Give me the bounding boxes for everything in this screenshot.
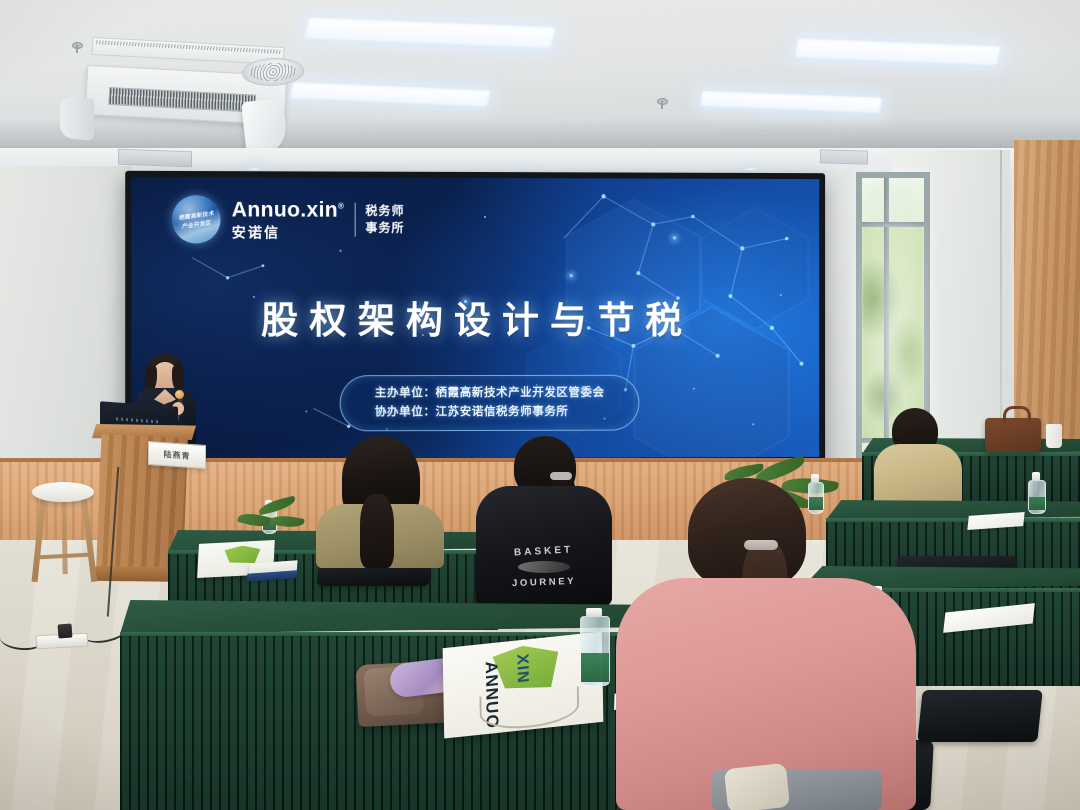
water-bottle-front [580, 608, 608, 684]
host-organizer-line: 主办单位：栖霞高新技术产业开发区管委会 [375, 384, 605, 403]
registered-mark: ® [338, 202, 344, 211]
glow-particle [570, 274, 573, 277]
stool-seat [32, 482, 94, 502]
attendee-hoodie [476, 486, 612, 606]
brand-name-cn: 安诺信 [232, 225, 345, 239]
potted-plant-small [236, 498, 306, 542]
attendee-bag-strap [724, 763, 790, 810]
brand-sub-line-2: 事务所 [365, 221, 404, 234]
cohost-organizer-line: 协办单位：江苏安诺信税务师事务所 [375, 403, 605, 422]
organizer-box: 主办单位：栖霞高新技术产业开发区管委会 协办单位：江苏安诺信税务师事务所 [340, 375, 640, 432]
water-bottle-1 [1028, 472, 1044, 512]
brand-name-en-text: Annuo.xin [232, 198, 338, 221]
paper-cup [1046, 424, 1062, 448]
window-mullion-horizontal-1 [862, 222, 924, 227]
soffit-vent-plate [118, 149, 192, 168]
microphone-head-icon [175, 390, 184, 399]
led-display-screen[interactable]: 栖霞高新技术 产业开发区 Annuo.xin® 安诺信 税务师 事务所 股权架 [131, 177, 819, 459]
glow-particle [673, 236, 675, 238]
power-plug[interactable] [58, 624, 73, 639]
hair-tie [744, 540, 778, 550]
ac-grill [108, 87, 256, 113]
attendee-khaki-jacket [316, 436, 444, 566]
leather-briefcase [985, 418, 1041, 452]
star-particle [693, 388, 695, 390]
window-foliage [862, 224, 924, 439]
conference-room-photo: 栖霞高新技术 产业开发区 Annuo.xin® 安诺信 税务师 事务所 股权架 [0, 0, 1080, 810]
hair-tie [550, 472, 572, 480]
attendee-black-hoodie: BASKET JOURNEY [476, 436, 612, 606]
ac-side-cap [60, 95, 94, 141]
slide-brand-lockup: 栖霞高新技术 产业开发区 Annuo.xin® 安诺信 税务师 事务所 [172, 195, 405, 244]
speaker-nameplate-text: 陆燕青 [164, 449, 191, 462]
speaker-nameplate: 陆燕青 [148, 441, 206, 469]
plant-leaf [269, 513, 304, 530]
table-top [120, 600, 640, 634]
soffit-vent-plate-2 [820, 149, 868, 164]
sprinkler-icon-1 [72, 42, 81, 53]
sprinkler-icon-2 [657, 98, 666, 109]
slide-title: 股权架构设计与节税 [131, 290, 819, 344]
zone-emblem-badge-icon: 栖霞高新技术 产业开发区 [172, 195, 221, 243]
tote-text-bottom: XIN [513, 653, 531, 685]
brand-name-en: Annuo.xin® [232, 199, 345, 220]
led-display-bezel: 栖霞高新技术 产业开发区 Annuo.xin® 安诺信 税务师 事务所 股权架 [125, 171, 825, 465]
tote-green-logo [224, 545, 261, 565]
star-particle [484, 216, 486, 218]
chair-row2-right[interactable] [917, 690, 1042, 742]
brand-divider [354, 203, 355, 237]
briefcase-handle [1003, 406, 1031, 423]
attendee-hair-over-shoulder [360, 494, 394, 568]
attendee-pink-sweater [616, 478, 916, 810]
brand-sub-line-1: 税务师 [365, 205, 404, 218]
plant-leaf [257, 496, 297, 516]
star-particle [305, 410, 307, 412]
